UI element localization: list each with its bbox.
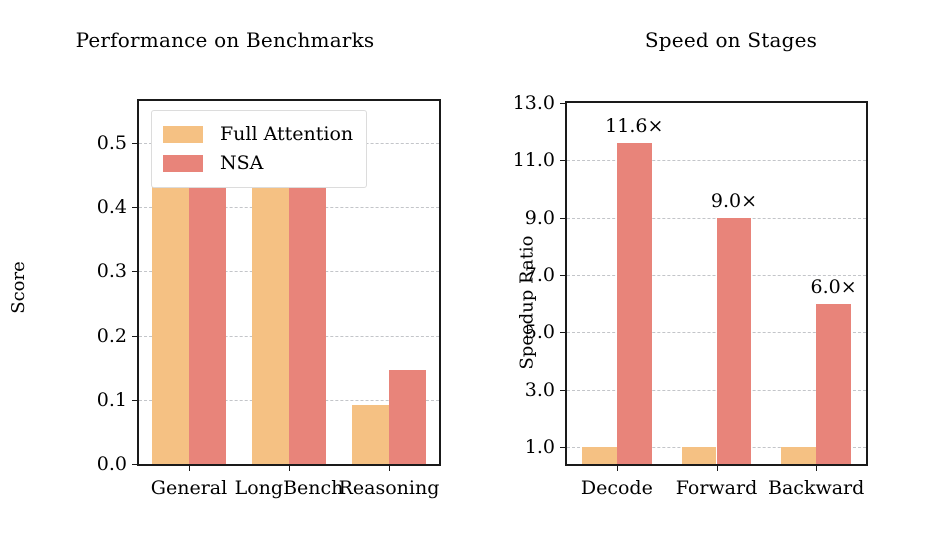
y-tick-label: 0.1 (97, 389, 127, 411)
legend-swatch-nsa (163, 155, 203, 172)
y-axis-label-score: Score (8, 261, 29, 314)
bar (352, 405, 389, 464)
y-tick-label: 0.4 (97, 196, 127, 218)
legend-item-full-attention[interactable]: Full Attention (163, 120, 353, 149)
x-tick-mark (289, 464, 290, 471)
bar-value-label: 11.6× (605, 115, 663, 137)
bar (781, 447, 816, 464)
gridline (567, 160, 866, 161)
y-tick-mark (560, 447, 567, 448)
y-tick-label: 0.0 (97, 453, 127, 475)
bar (189, 171, 226, 464)
legend-label-full-attention: Full Attention (220, 125, 353, 144)
legend-performance: Full Attention NSA (151, 110, 367, 188)
y-tick-mark (132, 207, 139, 208)
y-tick-mark (560, 332, 567, 333)
x-tick-mark (389, 464, 390, 471)
y-tick-label: 0.2 (97, 325, 127, 347)
legend-label-nsa: NSA (220, 154, 263, 173)
legend-swatch-full-attention (163, 126, 203, 143)
panel-title-speed: Speed on Stages (494, 28, 948, 52)
y-tick-label: 3.0 (525, 379, 555, 401)
figure-canvas: Performance on Benchmarks Score 0.00.10.… (0, 0, 948, 540)
plot-area-speed: 1.03.05.07.09.011.013.0Decode11.6×Forwar… (565, 101, 868, 466)
y-tick-mark (560, 103, 567, 104)
y-tick-label: 7.0 (525, 264, 555, 286)
bar-value-label: 9.0× (711, 190, 757, 212)
bar (816, 304, 851, 464)
x-tick-mark (617, 464, 618, 471)
y-tick-mark (132, 143, 139, 144)
y-tick-label: 0.5 (97, 132, 127, 154)
y-tick-mark (132, 271, 139, 272)
y-tick-mark (560, 160, 567, 161)
x-tick-mark (717, 464, 718, 471)
x-tick-label: LongBench (235, 477, 344, 499)
x-tick-label: Decode (581, 477, 653, 499)
y-tick-label: 9.0 (525, 207, 555, 229)
plot-area-performance: 0.00.10.20.30.40.5GeneralLongBenchReason… (137, 99, 441, 466)
y-tick-mark (132, 464, 139, 465)
bar (289, 163, 326, 464)
chart-panel-speed: Speed on Stages Speedup Ratio 1.03.05.07… (474, 0, 948, 540)
y-tick-label: 0.3 (97, 260, 127, 282)
y-tick-label: 1.0 (525, 436, 555, 458)
panel-title-performance: Performance on Benchmarks (0, 28, 462, 52)
x-tick-mark (816, 464, 817, 471)
bar (717, 218, 752, 464)
y-tick-mark (132, 336, 139, 337)
x-tick-mark (189, 464, 190, 471)
y-tick-mark (560, 275, 567, 276)
legend-item-nsa[interactable]: NSA (163, 149, 353, 178)
y-tick-mark (560, 390, 567, 391)
bar (582, 447, 617, 464)
x-tick-label: General (151, 477, 227, 499)
y-tick-mark (560, 218, 567, 219)
y-axis-label-speedup-ratio: Speedup Ratio (517, 235, 538, 369)
bar (389, 370, 426, 464)
chart-panel-performance: Performance on Benchmarks Score 0.00.10.… (0, 0, 474, 540)
x-tick-label: Reasoning (339, 477, 440, 499)
y-tick-label: 11.0 (513, 149, 555, 171)
bar-value-label: 6.0× (811, 276, 857, 298)
x-tick-label: Backward (768, 477, 864, 499)
y-tick-label: 5.0 (525, 321, 555, 343)
y-tick-mark (132, 400, 139, 401)
bar (617, 143, 652, 464)
y-tick-label: 13.0 (513, 92, 555, 114)
bar (682, 447, 717, 464)
bar (252, 183, 289, 464)
x-tick-label: Forward (676, 477, 758, 499)
bar (152, 179, 189, 464)
